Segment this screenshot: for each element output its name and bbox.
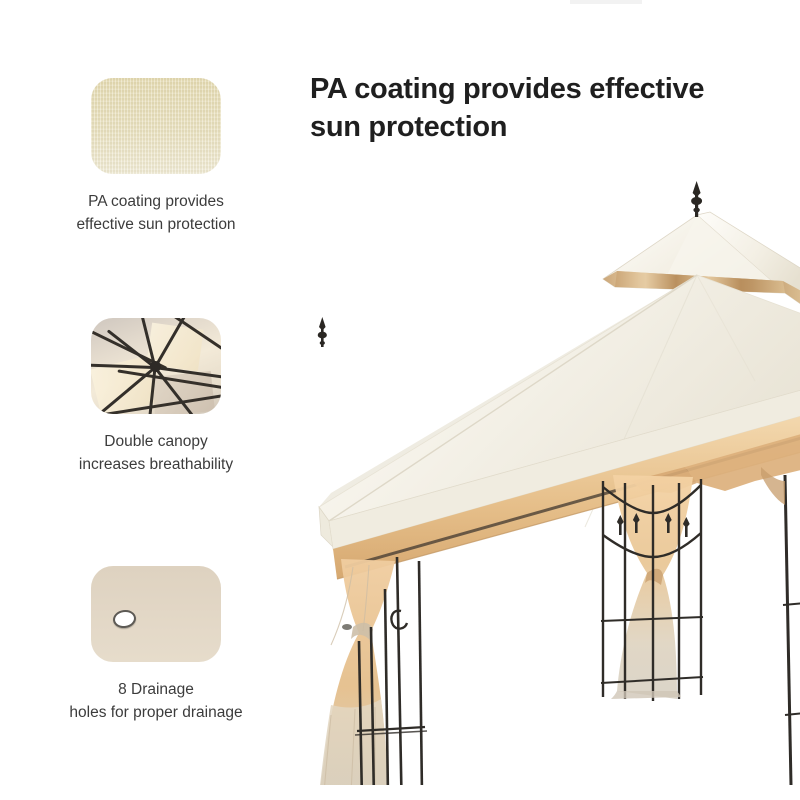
page-title-line-1: PA coating provides effective	[310, 73, 704, 105]
canopy-interior-icon	[91, 318, 221, 414]
feature-double-canopy: Double canopy increases breathability	[36, 318, 276, 477]
gazebo-post-left	[315, 557, 435, 785]
decorative-ironwork-center	[601, 479, 703, 701]
drainage-grommet-icon	[91, 566, 221, 662]
feature-caption-line-2: holes for proper drainage	[36, 701, 276, 724]
grommet-hole	[112, 608, 137, 629]
page-title-line-2: sun protection	[310, 111, 507, 143]
feature-pa-coating: PA coating provides effective sun protec…	[36, 78, 276, 237]
feature-caption: Double canopy increases breathability	[36, 430, 276, 477]
infographic-page: PA coating provides effective sun protec…	[0, 0, 800, 800]
product-photo-gazebo	[285, 175, 800, 785]
feature-caption: 8 Drainage holes for proper drainage	[36, 678, 276, 725]
page-title: PA coating provides effective sun protec…	[310, 70, 760, 147]
feature-drainage-holes: 8 Drainage holes for proper drainage	[36, 566, 276, 725]
gazebo-post-center	[601, 475, 703, 701]
feature-caption: PA coating provides effective sun protec…	[36, 190, 276, 237]
roof-finial-top	[691, 181, 702, 217]
feature-caption-line-1: 8 Drainage	[36, 678, 276, 701]
feature-caption-line-1: PA coating provides	[36, 190, 276, 213]
canopy-hub	[150, 361, 161, 372]
feature-caption-line-2: effective sun protection	[36, 213, 276, 236]
fabric-swatch-icon	[91, 78, 221, 174]
top-edge-artifact	[570, 0, 642, 4]
gazebo-post-right	[761, 467, 800, 785]
roof-finial-left	[318, 317, 327, 347]
feature-caption-line-2: increases breathability	[36, 453, 276, 476]
feature-caption-line-1: Double canopy	[36, 430, 276, 453]
